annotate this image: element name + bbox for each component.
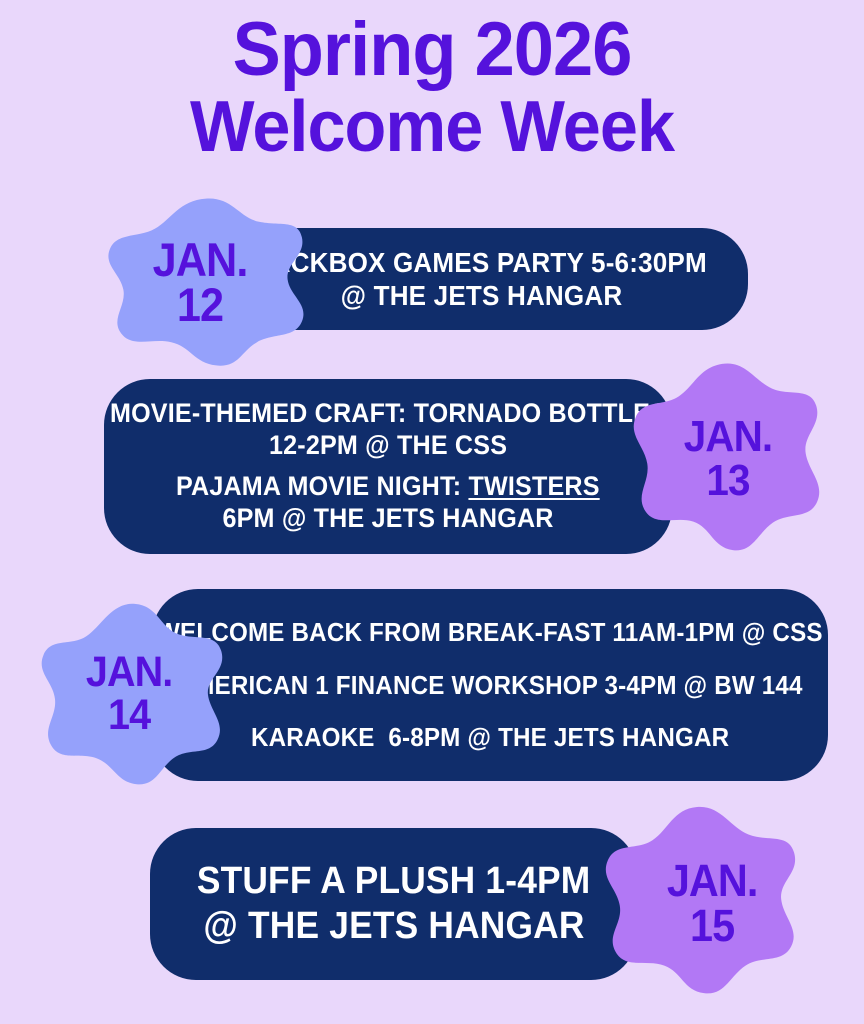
event-bar-jan14[interactable]: WELCOME BACK FROM BREAK-FAST 11AM-1PM @ … — [152, 589, 828, 781]
event-line-with-underline: PAJAMA MOVIE NIGHT: TWISTERS — [176, 471, 600, 503]
badge-month: JAN. — [684, 417, 773, 457]
page-title: Spring 2026 Welcome Week — [0, 14, 864, 162]
date-badge-jan13[interactable]: JAN. 13 — [630, 362, 822, 552]
event-line: 6PM @ THE JETS HANGAR — [222, 503, 553, 535]
badge-day: 14 — [86, 696, 172, 736]
date-badge-text: JAN. 13 — [684, 417, 773, 502]
date-badge-text: JAN. 14 — [86, 653, 172, 735]
movie-title-underlined: TWISTERS — [469, 471, 600, 501]
date-badge-text: JAN. 12 — [153, 238, 248, 326]
badge-month: JAN. — [86, 653, 172, 693]
date-badge-text: JAN. 15 — [667, 860, 758, 946]
badge-month: JAN. — [667, 860, 758, 901]
date-badge-jan15[interactable]: JAN. 15 — [600, 806, 798, 996]
date-badge-jan12[interactable]: JAN. 12 — [104, 196, 308, 368]
poster-canvas: Spring 2026 Welcome Week JACKBOX GAMES P… — [0, 0, 864, 1024]
event-line-prefix: PAJAMA MOVIE NIGHT: — [176, 471, 468, 501]
event-line: @ THE JETS HANGAR — [341, 279, 623, 312]
event-line: 12-2PM @ THE CSS — [269, 430, 507, 462]
title-line-secondary: Welcome Week — [22, 93, 843, 162]
badge-month: JAN. — [153, 238, 248, 281]
date-badge-jan14[interactable]: JAN. 14 — [36, 602, 226, 787]
event-line: AMERICAN 1 FINANCE WORKSHOP 3-4PM @ BW 1… — [177, 670, 803, 701]
event-bar-jan13[interactable]: MOVIE-THEMED CRAFT: TORNADO BOTTLES 12-2… — [104, 379, 672, 554]
badge-day: 15 — [667, 905, 758, 946]
event-line: MOVIE-THEMED CRAFT: TORNADO BOTTLES — [109, 398, 666, 430]
title-line-primary: Spring 2026 — [22, 14, 843, 87]
event-line: @ THE JETS HANGAR — [203, 904, 584, 949]
event-line: KARAOKE 6-8PM @ THE JETS HANGAR — [251, 722, 729, 753]
event-line: WELCOME BACK FROM BREAK-FAST 11AM-1PM @ … — [157, 617, 823, 648]
badge-day: 12 — [153, 283, 248, 326]
event-bar-jan15[interactable]: STUFF A PLUSH 1-4PM @ THE JETS HANGAR — [150, 828, 637, 980]
badge-day: 13 — [684, 461, 773, 501]
event-line: STUFF A PLUSH 1-4PM — [197, 859, 591, 904]
event-line: JACKBOX GAMES PARTY 5-6:30PM — [257, 246, 707, 279]
